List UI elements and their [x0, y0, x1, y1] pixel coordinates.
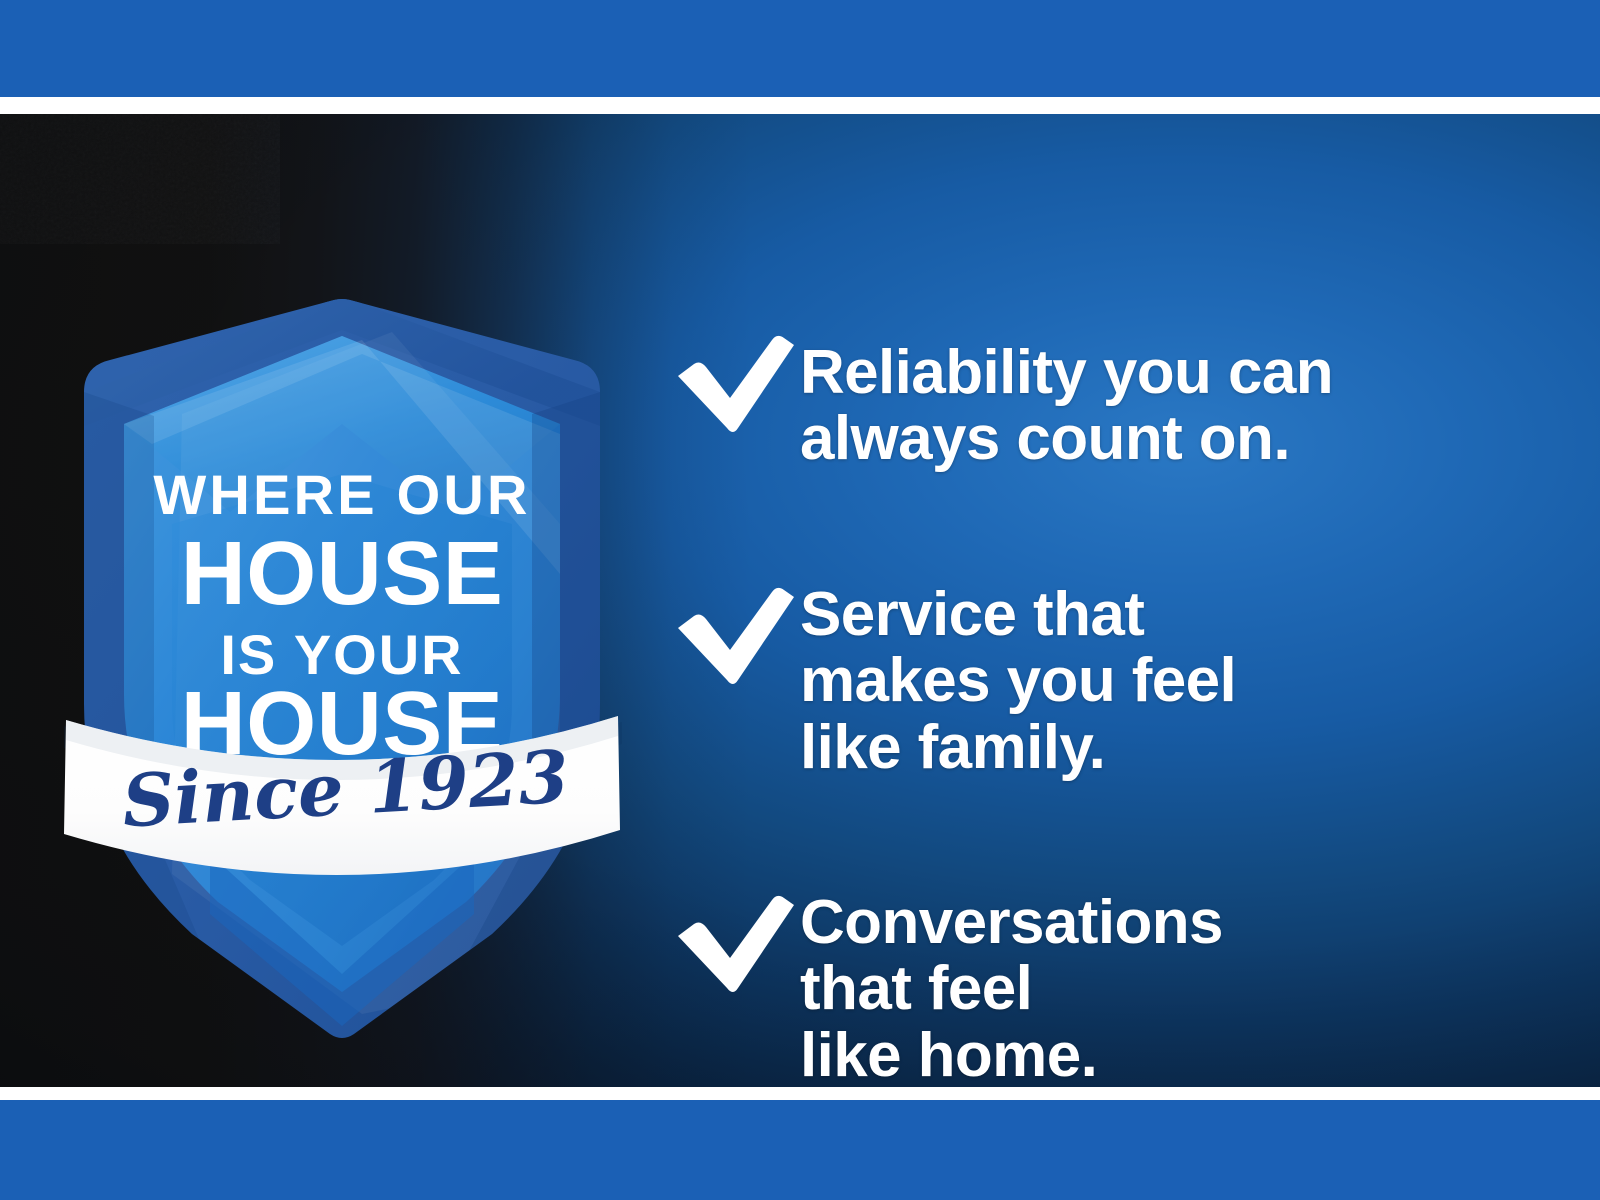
background-grain-texture	[0, 114, 280, 244]
list-item-label: Service that makes you feel like family.	[800, 582, 1236, 781]
promotional-banner: WHERE OUR HOUSE IS YOUR HOUSE Since 1923	[0, 0, 1600, 1200]
logo-line-2: HOUSE	[181, 524, 504, 624]
logo-line-1: WHERE OUR	[153, 463, 530, 526]
list-item-label: Conversations that feel like home.	[800, 890, 1223, 1087]
check-icon	[668, 324, 800, 444]
shield-logo: WHERE OUR HOUSE IS YOUR HOUSE Since 1923	[62, 274, 622, 1064]
list-item: Conversations that feel like home.	[668, 884, 1223, 1087]
list-item: Reliability you can always count on.	[668, 324, 1333, 473]
benefits-list: Reliability you can always count on. Ser…	[668, 264, 1568, 1087]
top-accent-bar	[0, 0, 1600, 97]
list-item-label: Reliability you can always count on.	[800, 340, 1333, 473]
banner-stage: WHERE OUR HOUSE IS YOUR HOUSE Since 1923	[0, 114, 1600, 1087]
check-icon	[668, 884, 800, 1004]
check-icon	[668, 576, 800, 696]
list-item: Service that makes you feel like family.	[668, 576, 1236, 781]
bottom-accent-bar	[0, 1100, 1600, 1200]
bottom-white-divider	[0, 1087, 1600, 1100]
top-white-divider	[0, 97, 1600, 114]
